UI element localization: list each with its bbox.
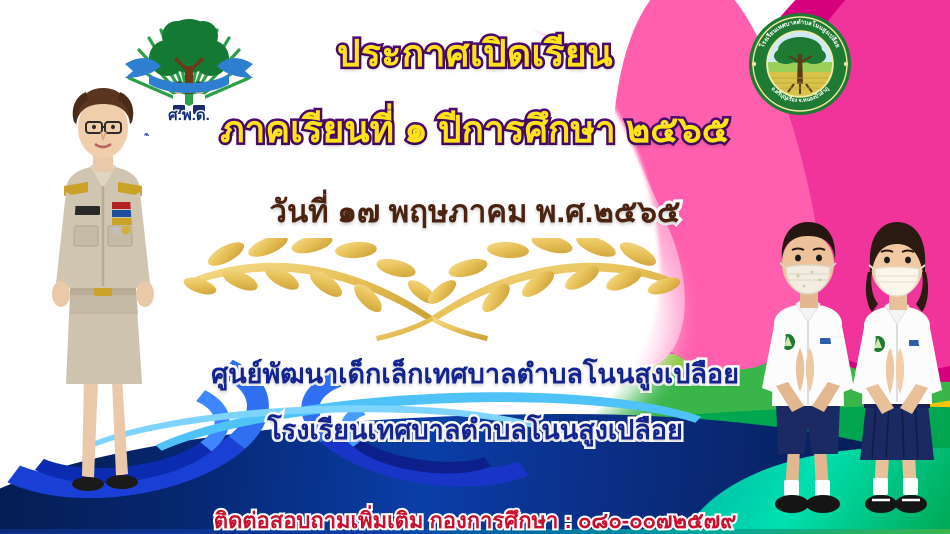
poster-title-line-2: ภาคเรียนที่ ๑ ปีการศึกษา ๒๕๖๕ — [0, 100, 950, 159]
poster-contact-line: ติดต่อสอบถามเพิ่มเติม กองการศึกษา : ๐๘๐-… — [0, 503, 950, 534]
poster-org-line-2: โรงเรียนเทศบาลตำบลโนนสูงเปลือย — [0, 408, 950, 451]
poster-org-line-1: ศูนย์พัฒนาเด็กเล็กเทศบาลตำบลโนนสูงเปลือย — [0, 352, 950, 395]
poster-title-line-1: ประกาศเปิดเรียน — [0, 24, 950, 83]
poster-date-line: วันที่ ๑๗ พฤษภาคม พ.ศ.๒๕๖๕ — [0, 186, 950, 236]
poster-canvas: ศูนย์พัฒนาเด็กเล็กเทศบาลตำบลโนนสูงเปลือย… — [0, 0, 950, 534]
gold-laurel-branches-icon — [182, 238, 682, 346]
